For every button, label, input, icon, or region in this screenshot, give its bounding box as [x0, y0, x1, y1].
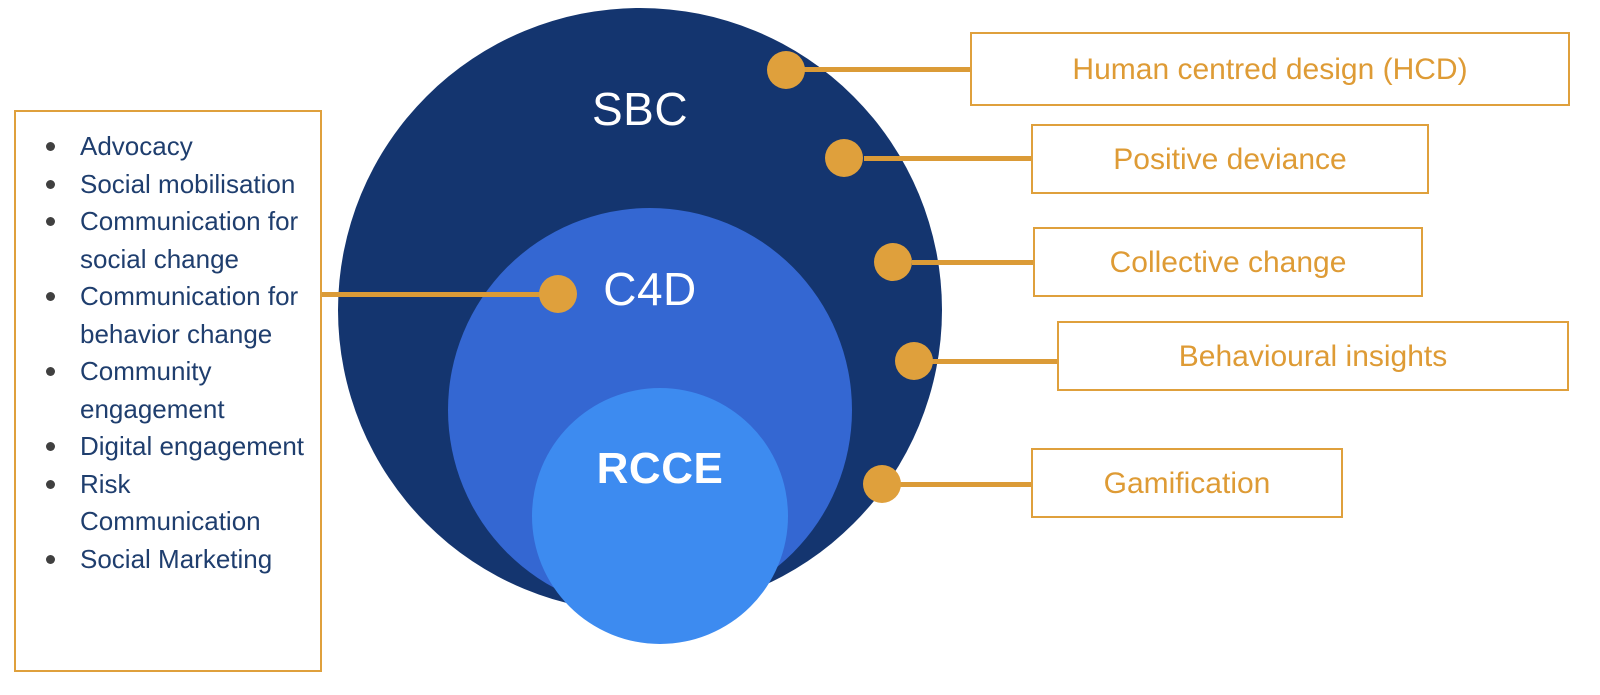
callout-label-behavioural-insights: Behavioural insights — [1179, 340, 1448, 373]
callout-label-gamification: Gamification — [1104, 467, 1271, 500]
callout-box-behavioural-insights[interactable]: Behavioural insights — [1057, 321, 1569, 391]
list-item-label: Social mobilisation — [80, 169, 295, 199]
connector-line-positive-deviance — [864, 156, 1031, 161]
connector-line-gamification — [895, 482, 1031, 487]
circle-label-sbc: SBC — [338, 82, 942, 136]
list-item-label: Risk Communication — [80, 469, 261, 537]
callout-label-positive-deviance: Positive deviance — [1113, 143, 1346, 176]
bullet-icon — [46, 292, 55, 301]
connector-line-collective-change — [912, 260, 1033, 265]
connector-dot-collective-change[interactable] — [874, 243, 912, 281]
connector-dot-hcd[interactable] — [767, 51, 805, 89]
callout-box-positive-deviance[interactable]: Positive deviance — [1031, 124, 1429, 194]
bullet-icon — [46, 480, 55, 489]
bullet-icon — [46, 367, 55, 376]
list-item-label: Social Marketing — [80, 544, 272, 574]
list-item[interactable]: Communication for social change — [30, 203, 312, 278]
list-item[interactable]: Advocacy — [30, 128, 312, 166]
list-item[interactable]: Digital engagement — [30, 428, 312, 466]
bullet-icon — [46, 442, 55, 451]
list-item-label: Communication for social change — [80, 206, 298, 274]
callout-label-hcd: Human centred design (HCD) — [1072, 53, 1467, 86]
list-item[interactable]: Community engagement — [30, 353, 312, 428]
connector-line-hcd — [786, 67, 990, 72]
connector-line-behavioural-insights — [930, 359, 1057, 364]
bullet-icon — [46, 217, 55, 226]
connector-dot-gamification[interactable] — [863, 465, 901, 503]
bullet-icon — [46, 142, 55, 151]
left-list: Advocacy Social mobilisation Communicati… — [30, 128, 312, 578]
list-item-label: Community engagement — [80, 356, 225, 424]
list-item[interactable]: Communication for behavior change — [30, 278, 312, 353]
list-item[interactable]: Social Marketing — [30, 541, 312, 579]
circle-label-c4d: C4D — [448, 262, 852, 316]
callout-box-collective-change[interactable]: Collective change — [1033, 227, 1423, 297]
bullet-icon — [46, 555, 55, 564]
circle-rcce[interactable] — [532, 388, 788, 644]
diagram-canvas: SBC C4D RCCE Advocacy Social mobilisatio… — [0, 0, 1600, 695]
left-list-box: Advocacy Social mobilisation Communicati… — [14, 110, 322, 672]
callout-box-gamification[interactable]: Gamification — [1031, 448, 1343, 518]
list-item[interactable]: Risk Communication — [30, 466, 312, 541]
bullet-icon — [46, 180, 55, 189]
list-item-label: Advocacy — [80, 131, 193, 161]
callout-label-collective-change: Collective change — [1110, 246, 1347, 279]
list-item-label: Digital engagement — [80, 431, 304, 461]
circle-label-rcce: RCCE — [532, 444, 788, 494]
connector-dot-positive-deviance[interactable] — [825, 139, 863, 177]
connector-dot-behavioural-insights[interactable] — [895, 342, 933, 380]
callout-box-hcd[interactable]: Human centred design (HCD) — [970, 32, 1570, 106]
connector-dot-left-list[interactable] — [539, 275, 577, 313]
list-item-label: Communication for behavior change — [80, 281, 298, 349]
connector-line-left-list — [322, 292, 548, 297]
list-item[interactable]: Social mobilisation — [30, 166, 312, 204]
